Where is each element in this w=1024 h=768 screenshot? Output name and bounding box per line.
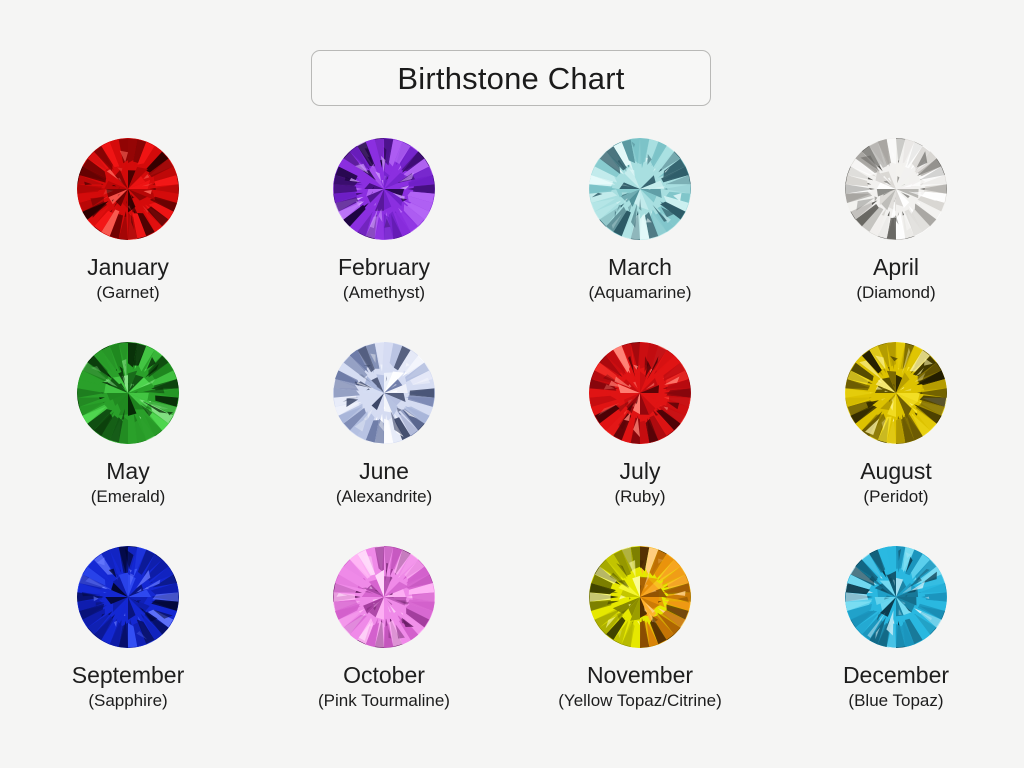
chart-title-box: Birthstone Chart	[311, 50, 711, 106]
stone-name-label: (Blue Topaz)	[848, 692, 943, 710]
stone-name-label: (Diamond)	[856, 284, 935, 302]
birthstone-cell-september[interactable]: September(Sapphire)	[0, 545, 256, 749]
stone-name-label: (Amethyst)	[343, 284, 425, 302]
gem-icon	[844, 545, 948, 649]
month-label: June	[359, 459, 409, 483]
month-label: October	[343, 663, 425, 687]
gem-icon	[332, 341, 436, 445]
birthstone-cell-july[interactable]: July(Ruby)	[512, 341, 768, 545]
stone-name-label: (Yellow Topaz/Citrine)	[558, 692, 721, 710]
gem-icon	[588, 545, 692, 649]
stone-name-label: (Pink Tourmaline)	[318, 692, 450, 710]
birthstone-cell-february[interactable]: February(Amethyst)	[256, 137, 512, 341]
gem-icon	[332, 137, 436, 241]
month-label: May	[106, 459, 149, 483]
birthstone-cell-june[interactable]: June(Alexandrite)	[256, 341, 512, 545]
stone-name-label: (Sapphire)	[88, 692, 167, 710]
stone-name-label: (Ruby)	[614, 488, 665, 506]
month-label: March	[608, 255, 672, 279]
birthstone-cell-may[interactable]: May(Emerald)	[0, 341, 256, 545]
month-label: July	[620, 459, 661, 483]
birthstone-cell-october[interactable]: October(Pink Tourmaline)	[256, 545, 512, 749]
birthstone-cell-march[interactable]: March(Aquamarine)	[512, 137, 768, 341]
month-label: February	[338, 255, 430, 279]
month-label: April	[873, 255, 919, 279]
gem-icon	[76, 341, 180, 445]
stone-name-label: (Emerald)	[91, 488, 166, 506]
birthstone-cell-november[interactable]: November(Yellow Topaz/Citrine)	[512, 545, 768, 749]
birthstone-cell-december[interactable]: December(Blue Topaz)	[768, 545, 1024, 749]
birthstone-cell-january[interactable]: January(Garnet)	[0, 137, 256, 341]
month-label: August	[860, 459, 932, 483]
gem-icon	[76, 137, 180, 241]
birthstone-cell-august[interactable]: August(Peridot)	[768, 341, 1024, 545]
gem-icon	[588, 341, 692, 445]
gem-icon	[844, 341, 948, 445]
stone-name-label: (Aquamarine)	[589, 284, 692, 302]
birthstone-cell-april[interactable]: April(Diamond)	[768, 137, 1024, 341]
month-label: September	[72, 663, 185, 687]
birthstone-grid: January(Garnet)February(Amethyst)March(A…	[0, 137, 1024, 749]
stone-name-label: (Alexandrite)	[336, 488, 432, 506]
month-label: November	[587, 663, 693, 687]
gem-icon	[76, 545, 180, 649]
stone-name-label: (Peridot)	[863, 488, 928, 506]
gem-icon	[588, 137, 692, 241]
gem-icon	[332, 545, 436, 649]
page-title: Birthstone Chart	[397, 63, 624, 94]
month-label: December	[843, 663, 949, 687]
stone-name-label: (Garnet)	[96, 284, 159, 302]
month-label: January	[87, 255, 169, 279]
gem-icon	[844, 137, 948, 241]
